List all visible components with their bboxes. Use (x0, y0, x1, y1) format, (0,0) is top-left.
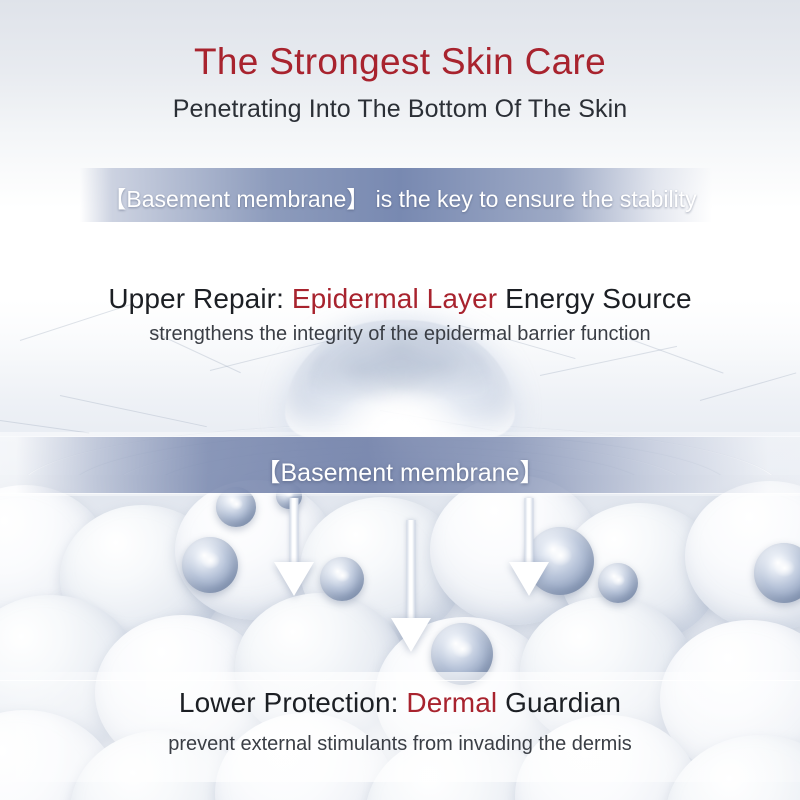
basement-membrane-label: 【Basement membrane】 (0, 453, 800, 489)
lower-section-heading: Lower Protection: Dermal Guardian (0, 687, 800, 719)
molecule-sphere-icon (598, 563, 638, 603)
lower-section-subtext: prevent external stimulants from invadin… (0, 733, 800, 756)
arrow-head (274, 562, 314, 596)
upper-section-heading: Upper Repair: Epidermal Layer Energy Sou… (0, 283, 800, 315)
banner-rest-label: is the key to ensure the stability (369, 186, 696, 212)
arrow-shaft (407, 520, 416, 620)
dermis-divider-line (0, 680, 800, 681)
down-arrow-icon (507, 498, 551, 596)
upper-section-subtext: strengthens the integrity of the epiderm… (0, 323, 800, 346)
page-subtitle: Penetrating Into The Bottom Of The Skin (0, 95, 800, 124)
skin-crack-line (60, 395, 207, 427)
skin-crack-line (700, 372, 796, 401)
upper-heading-highlight: Epidermal Layer (292, 283, 497, 314)
lower-heading-prefix: Lower Protection: (179, 687, 406, 718)
lower-heading-highlight: Dermal (406, 687, 497, 718)
arrow-shaft (525, 498, 534, 564)
down-arrow-icon (272, 498, 316, 596)
lower-heading-suffix: Guardian (497, 687, 621, 718)
skin-crack-line (540, 346, 677, 376)
banner-bracket-label: 【Basement membrane】 (103, 186, 369, 212)
upper-heading-prefix: Upper Repair: (108, 283, 291, 314)
page-title: The Strongest Skin Care (0, 41, 800, 83)
arrow-head (509, 562, 549, 596)
arrow-head (391, 618, 431, 652)
down-arrow-icon (389, 520, 433, 652)
skincare-poster: The Strongest Skin Care Penetrating Into… (0, 0, 800, 800)
molecule-sphere-icon (320, 557, 364, 601)
banner-headline: 【Basement membrane】 is the key to ensure… (0, 180, 800, 214)
upper-heading-suffix: Energy Source (497, 283, 691, 314)
arrow-shaft (290, 498, 299, 564)
molecule-sphere-icon (182, 537, 238, 593)
